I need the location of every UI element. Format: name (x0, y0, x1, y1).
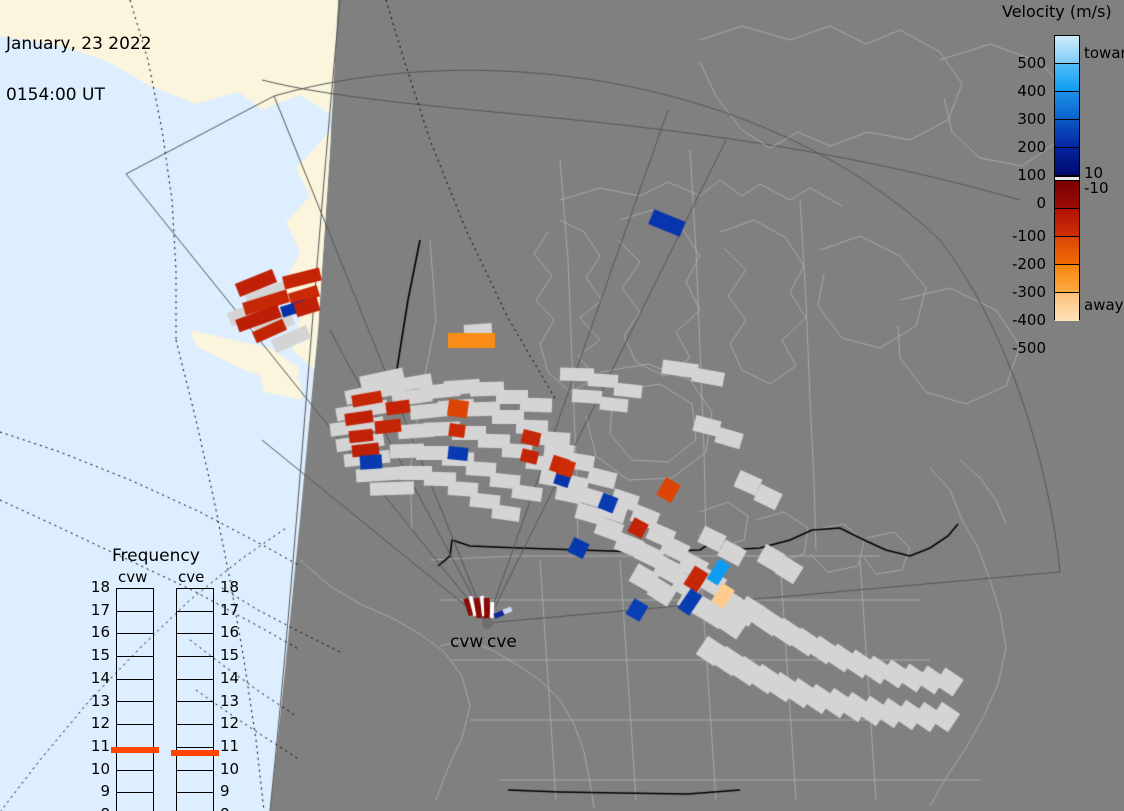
frequency-segment (177, 702, 213, 725)
frequency-segment (177, 680, 213, 703)
frequency-tick-cvw-9: 9 (88, 784, 110, 799)
frequency-segment (177, 725, 213, 748)
superdarn-map-root: January, 23 2022 0154:00 UT Velocity (m/… (0, 0, 1124, 811)
colorbar-gradient (1054, 35, 1080, 320)
frequency-tick-cve-11: 11 (220, 739, 239, 754)
frequency-column-label-cvw: cvw (118, 568, 147, 586)
timestamp-date: January, 23 2022 (6, 36, 152, 53)
frequency-segment (117, 680, 153, 703)
frequency-segment (117, 793, 153, 811)
frequency-legend-title: Frequency (112, 546, 200, 566)
colorbar-away-label: away (1084, 298, 1124, 313)
frequency-tick-cve-14: 14 (220, 671, 239, 686)
frequency-tick-cve-13: 13 (220, 694, 239, 709)
frequency-segment (117, 657, 153, 680)
frequency-segment (177, 634, 213, 657)
colorbar-tick-200: 200 (1017, 140, 1046, 155)
colorbar-tick-neg300: -300 (1012, 285, 1046, 300)
colorbar-tick-neg400: -400 (1012, 313, 1046, 328)
frequency-tick-cve-18: 18 (220, 580, 239, 595)
frequency-tick-cve-15: 15 (220, 648, 239, 663)
frequency-column-label-cve: cve (178, 568, 204, 586)
colorbar-tick-400: 400 (1017, 84, 1046, 99)
frequency-segment (177, 612, 213, 635)
frequency-tick-cve-16: 16 (220, 625, 239, 640)
colorbar-band--300__-200 (1055, 237, 1079, 265)
frequency-segment (117, 702, 153, 725)
colorbar-band--400__-300 (1055, 265, 1079, 293)
frequency-segment (177, 793, 213, 811)
colorbar-tick-500: 500 (1017, 56, 1046, 71)
colorbar-tick-neg500: -500 (1012, 341, 1046, 356)
frequency-tick-cve-12: 12 (220, 716, 239, 731)
frequency-tick-cvw-10: 10 (88, 762, 110, 777)
frequency-segment (117, 725, 153, 748)
radar-site-label-cvw: cvw (450, 632, 483, 652)
frequency-segment (177, 589, 213, 612)
colorbar-title: Velocity (m/s) (1002, 2, 1112, 21)
frequency-bar-cvw[interactable] (116, 588, 154, 811)
colorbar-lower-threshold: -10 (1084, 181, 1109, 196)
colorbar-tick-neg200: -200 (1012, 257, 1046, 272)
velocity-colorbar-panel: Velocity (m/s) 5004003002001000-100-200-… (980, 0, 1124, 340)
colorbar-tick-0: 0 (1036, 196, 1046, 211)
colorbar-band-300__400 (1055, 64, 1079, 92)
timestamp-time: 0154:00 UT (6, 87, 152, 104)
frequency-tick-cve-9: 9 (220, 784, 230, 799)
frequency-bar-cve[interactable] (176, 588, 214, 811)
colorbar-band-100__200 (1055, 120, 1079, 148)
colorbar-band-200__300 (1055, 92, 1079, 120)
frequency-tick-cvw-14: 14 (88, 671, 110, 686)
colorbar-band--200__-100 (1055, 209, 1079, 237)
frequency-tick-cvw-11: 11 (88, 739, 110, 754)
frequency-segment (177, 657, 213, 680)
colorbar-tick-300: 300 (1017, 112, 1046, 127)
frequency-segment (117, 771, 153, 794)
colorbar-tick-100: 100 (1017, 168, 1046, 183)
radar-site-label-cve: cve (487, 632, 517, 652)
radar-site-dot (482, 618, 493, 629)
frequency-segment (177, 771, 213, 794)
colorbar-band-400__500 (1055, 36, 1079, 64)
colorbar-band--100__0 (1055, 181, 1079, 209)
frequency-tick-cvw-17: 17 (88, 603, 110, 618)
frequency-segment (117, 589, 153, 612)
frequency-tick-cvw-16: 16 (88, 625, 110, 640)
colorbar-band--500__-400 (1055, 293, 1079, 321)
colorbar-band-0__100 (1055, 148, 1079, 176)
frequency-tick-cve-17: 17 (220, 603, 239, 618)
frequency-marker-cvw (111, 747, 159, 753)
colorbar-toward-label: toward (1084, 46, 1124, 61)
frequency-tick-cve-10: 10 (220, 762, 239, 777)
timestamp: January, 23 2022 0154:00 UT (6, 2, 152, 138)
frequency-tick-cvw-18: 18 (88, 580, 110, 595)
frequency-tick-cvw-12: 12 (88, 716, 110, 731)
frequency-legend-panel: Frequency cvw18171615141312111098cve1817… (88, 546, 238, 786)
frequency-tick-cvw-13: 13 (88, 694, 110, 709)
frequency-tick-cvw-15: 15 (88, 648, 110, 663)
frequency-marker-cve (171, 750, 219, 756)
frequency-tick-cve-8: 8 (220, 807, 230, 811)
colorbar-tick-neg100: -100 (1012, 229, 1046, 244)
frequency-segment (117, 634, 153, 657)
frequency-tick-cvw-8: 8 (88, 807, 110, 811)
frequency-segment (117, 612, 153, 635)
